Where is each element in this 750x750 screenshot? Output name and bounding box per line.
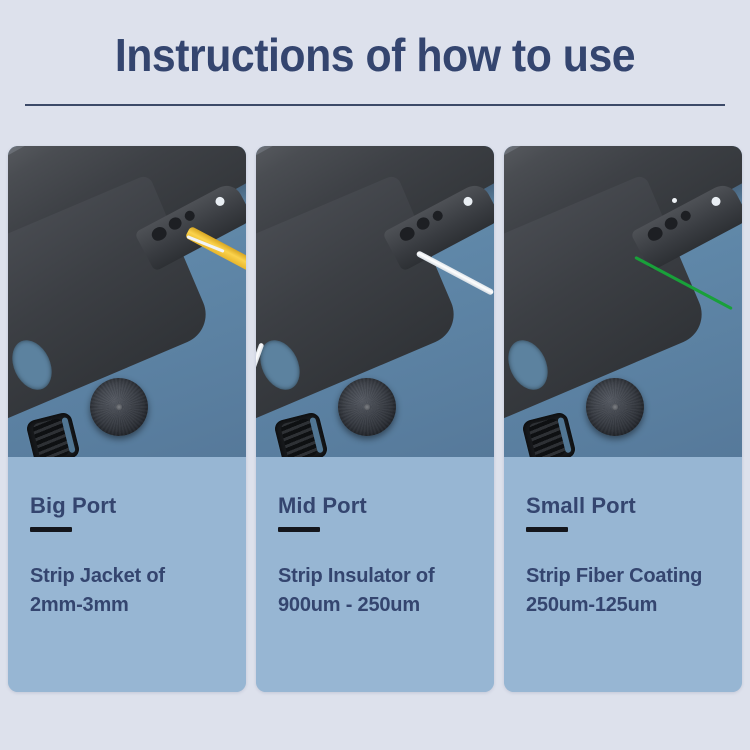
tool-pivot-knob (586, 378, 644, 436)
title-underline-bar (30, 527, 72, 532)
instruction-card-big-port[interactable]: Big Port Strip Jacket of 2mm-3mm (8, 146, 246, 692)
tool-spring (521, 411, 577, 457)
title-underline-bar (278, 527, 320, 532)
port-description-line2: 900um - 250um (278, 591, 472, 620)
port-description-line1: Strip Fiber Coating (526, 565, 702, 587)
card-text-panel: Big Port Strip Jacket of 2mm-3mm (8, 457, 246, 692)
port-name: Small Port (526, 495, 720, 517)
port-description-line1: Strip Insulator of (278, 565, 434, 587)
title-underline-bar (526, 527, 568, 532)
port-description: Strip Fiber Coating 250um-125um (526, 562, 720, 620)
port-description: Strip Insulator of 900um - 250um (278, 562, 472, 620)
tool-photo-big-port (8, 146, 246, 457)
card-text-panel: Mid Port Strip Insulator of 900um - 250u… (256, 457, 494, 692)
port-description-line2: 250um-125um (526, 591, 720, 620)
tool-pivot-knob (338, 378, 396, 436)
header-divider (25, 104, 725, 106)
instruction-card-small-port[interactable]: Small Port Strip Fiber Coating 250um-125… (504, 146, 742, 692)
tool-photo-small-port (504, 146, 742, 457)
tool-photo-mid-port (256, 146, 494, 457)
card-text-panel: Small Port Strip Fiber Coating 250um-125… (504, 457, 742, 692)
port-description: Strip Jacket of 2mm-3mm (30, 562, 224, 620)
instruction-card-mid-port[interactable]: Mid Port Strip Insulator of 900um - 250u… (256, 146, 494, 692)
tool-pivot-knob (90, 378, 148, 436)
port-description-line1: Strip Jacket of (30, 565, 165, 587)
page-title: Instructions of how to use (26, 28, 724, 82)
port-description-line2: 2mm-3mm (30, 591, 224, 620)
port-name: Big Port (30, 495, 224, 517)
port-name: Mid Port (278, 495, 472, 517)
instructions-page: Instructions of how to use (0, 0, 750, 750)
tool-spring (25, 411, 81, 457)
fiber-tip-dot-icon (672, 198, 677, 203)
instruction-cards: Big Port Strip Jacket of 2mm-3mm (8, 146, 742, 692)
tool-spring (273, 411, 329, 457)
